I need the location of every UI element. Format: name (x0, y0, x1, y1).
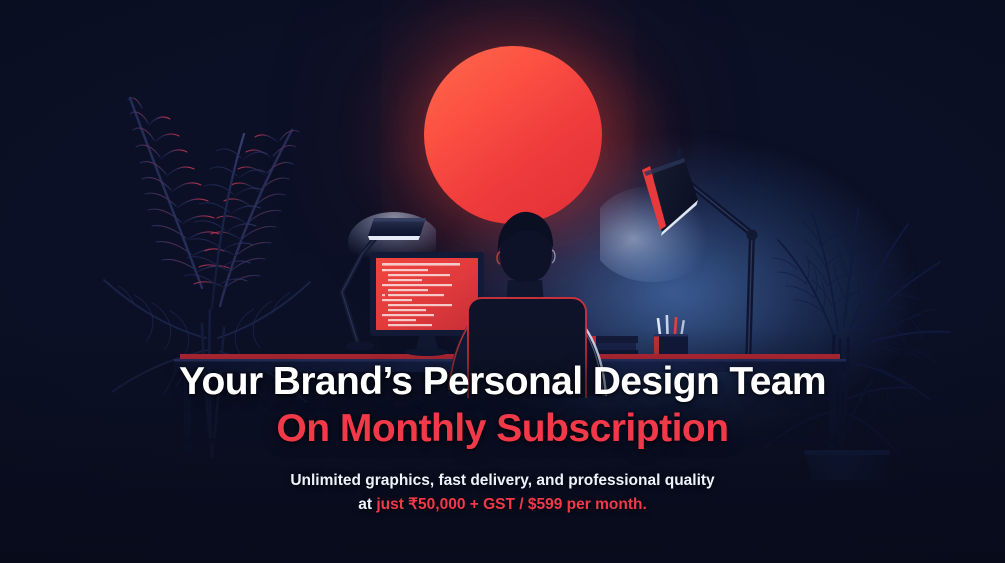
headline-primary: Your Brand’s Personal Design Team (0, 360, 1005, 404)
subtitle-line-2: at just ₹50,000 + GST / $599 per month. (0, 493, 1005, 517)
hero-banner: Your Brand’s Personal Design Team On Mon… (0, 0, 1005, 563)
subtitle-prefix: at (358, 496, 376, 513)
subtitle-line-1: Unlimited graphics, fast delivery, and p… (290, 472, 714, 489)
subtitle-block: Unlimited graphics, fast delivery, and p… (0, 469, 1005, 516)
price-accent: just ₹50,000 + GST / $599 per month. (376, 496, 646, 513)
headline-secondary: On Monthly Subscription (0, 407, 1005, 451)
headline-block: Your Brand’s Personal Design Team On Mon… (0, 360, 1005, 516)
